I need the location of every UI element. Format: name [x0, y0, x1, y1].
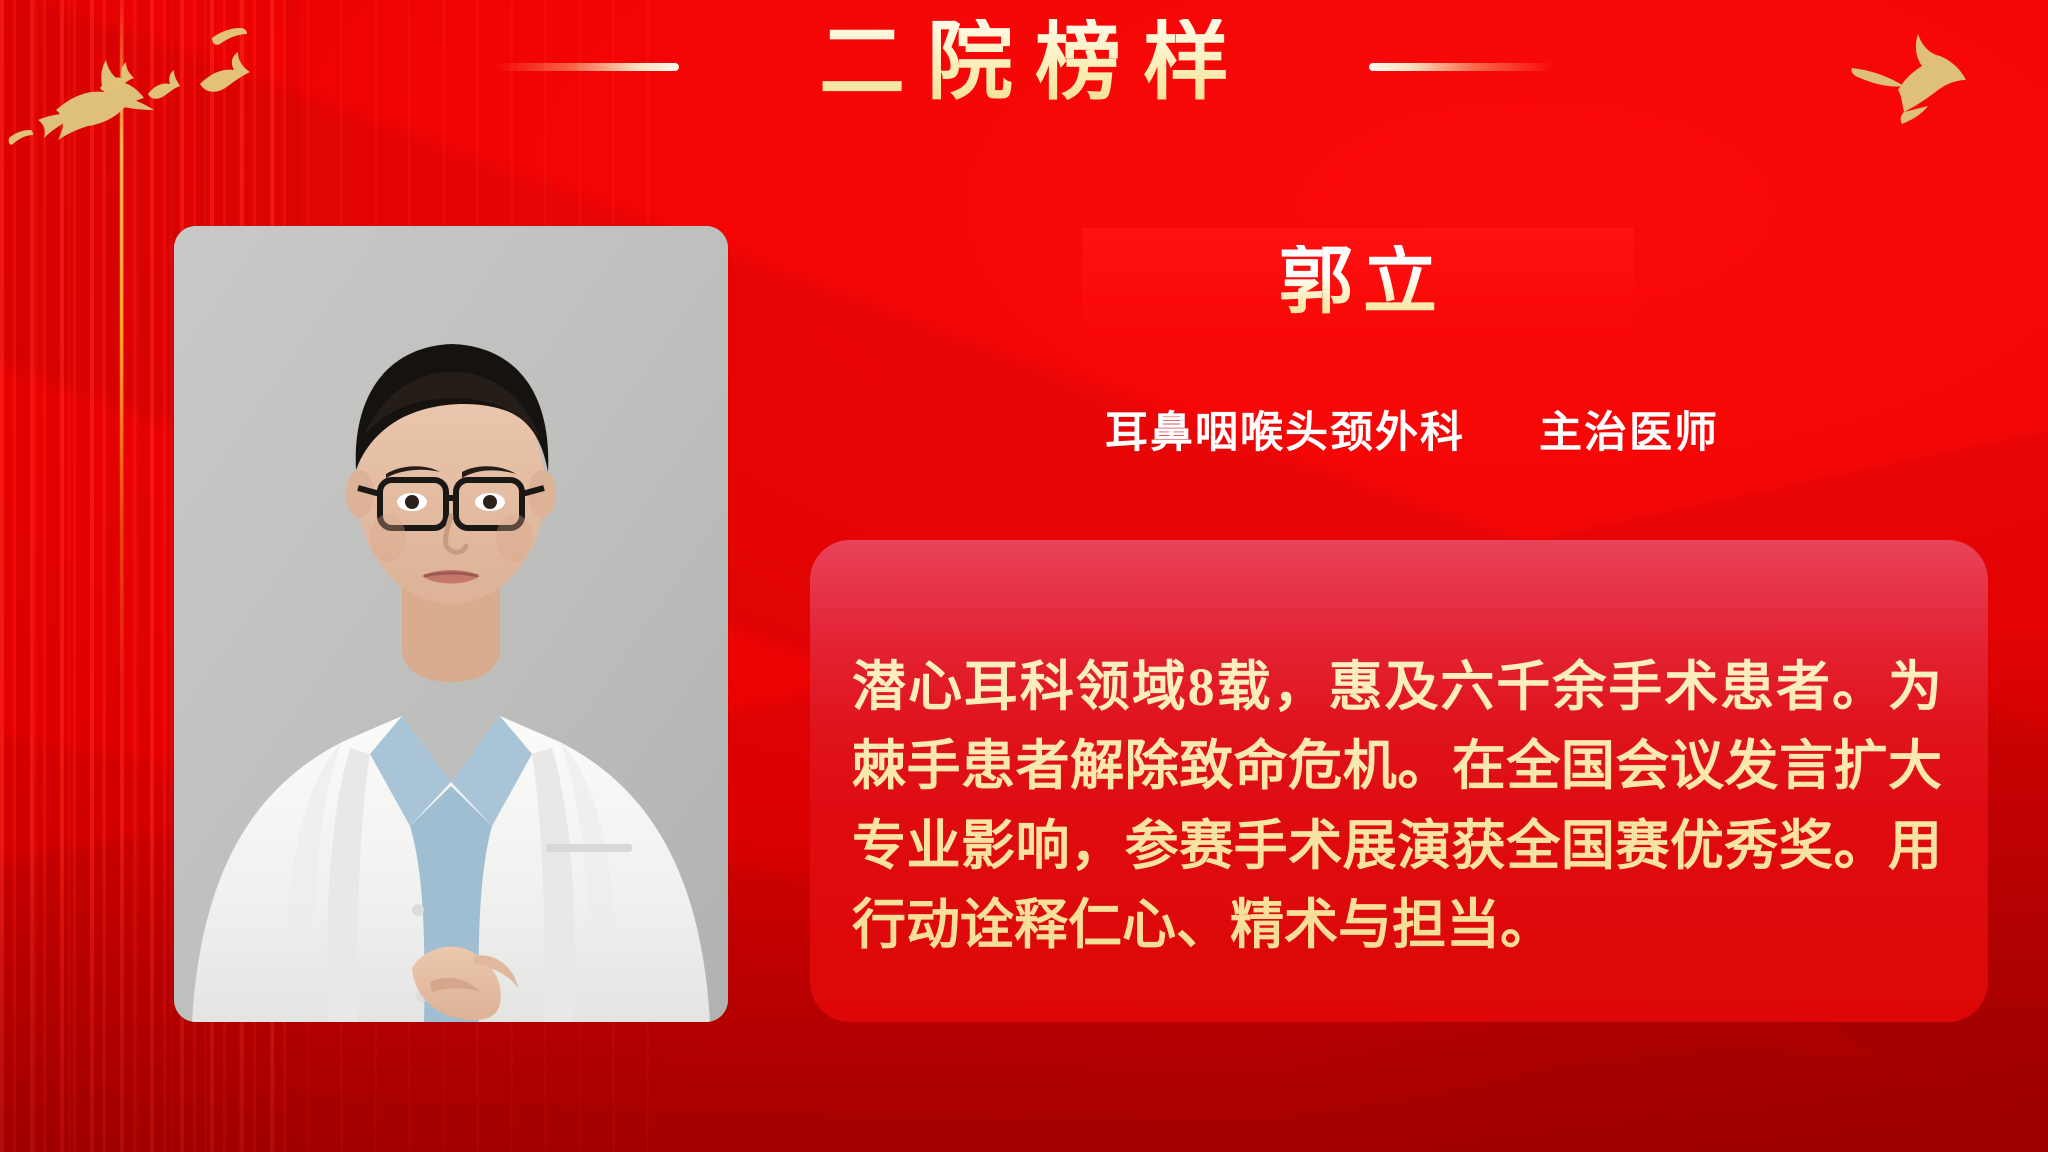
poster-canvas: 二院榜样	[0, 0, 2048, 1152]
doctor-name: 郭立	[1269, 245, 1447, 323]
decorative-rule-left	[494, 63, 679, 71]
page-title: 二院榜样	[797, 19, 1251, 111]
doctor-description-text: 潜心耳科领域8载，惠及六千余手术患者。为棘手患者解除致命危机。在全国会议发言扩大…	[852, 648, 1942, 966]
doctor-rank: 主治医师	[1539, 398, 1719, 460]
doctor-name-badge: 郭立	[1082, 228, 1634, 340]
header: 二院榜样	[0, 0, 2048, 130]
decorative-rule-right	[1369, 63, 1554, 71]
doctor-description-card: 潜心耳科领域8载，惠及六千余手术患者。为棘手患者解除致命危机。在全国会议发言扩大…	[810, 540, 1988, 1022]
doctor-portrait-photo	[174, 226, 728, 1022]
dove-icon	[8, 128, 34, 148]
doctor-credentials-row: 耳鼻咽喉头颈外科 主治医师	[1082, 398, 1742, 460]
portrait-illustration	[174, 226, 728, 1022]
doctor-department: 耳鼻咽喉头颈外科	[1105, 398, 1465, 460]
